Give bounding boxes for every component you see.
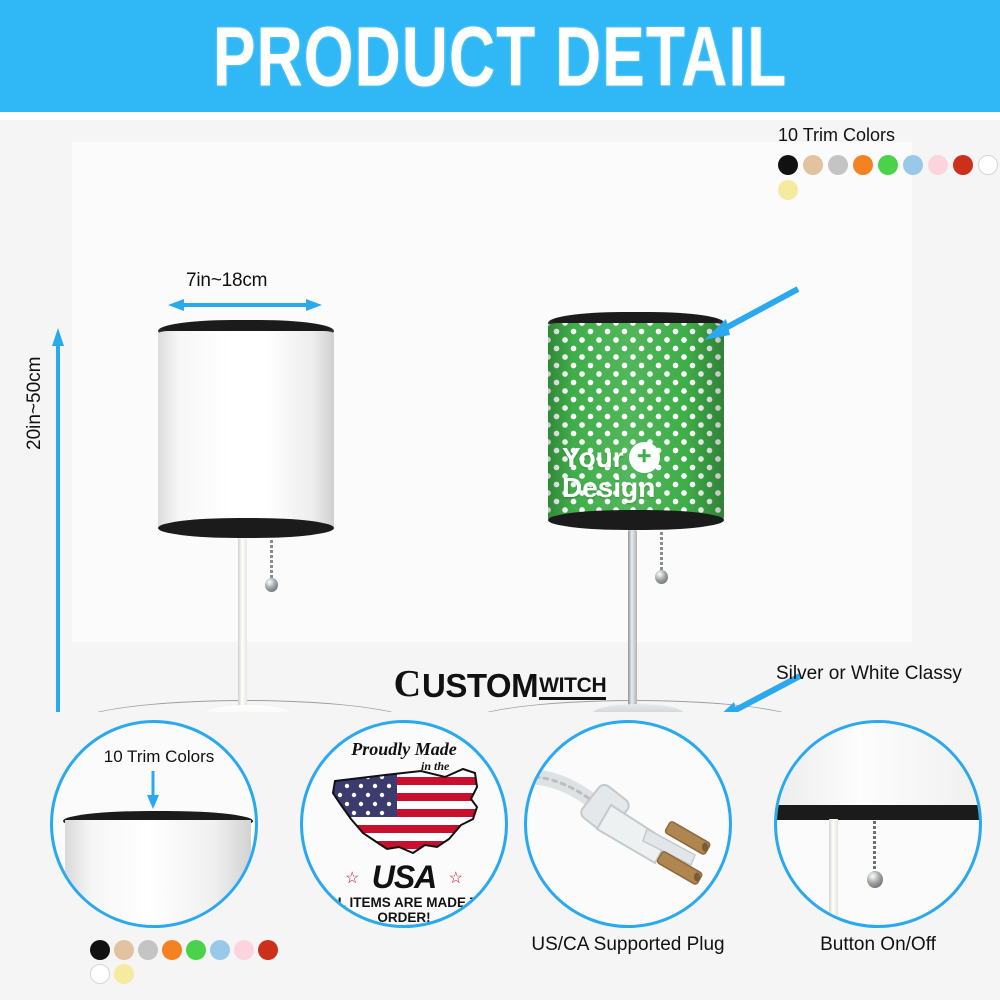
panel-swatch-tan[interactable] — [114, 940, 134, 960]
logo-main-text: USTOM — [422, 669, 538, 702]
panel-swatch-pink[interactable] — [234, 940, 254, 960]
green-lamp-shade-body: Your + Design — [548, 323, 724, 521]
usa-star-right: ☆ — [449, 868, 463, 888]
swatch-black[interactable] — [778, 155, 798, 175]
green-lamp-bottom-trim — [548, 510, 724, 530]
swatch-tan[interactable] — [803, 155, 823, 175]
swatch-yellow[interactable] — [778, 180, 798, 200]
made-in-usa-circle: Proudly Made in the — [300, 720, 508, 928]
white-lamp-shade-body — [158, 331, 334, 529]
green-lamp-pull-chain — [660, 532, 663, 574]
panel-swatch-red[interactable] — [258, 940, 278, 960]
brand-logo: C USTOM WITCH — [394, 666, 607, 702]
panel-swatch-yellow[interactable] — [114, 964, 134, 984]
your-design-placeholder: Your + Design — [562, 442, 660, 503]
made-in-usa-panel: Proudly Made in the — [288, 712, 520, 1000]
panel-swatch-light-blue[interactable] — [210, 940, 230, 960]
panel-swatch-black[interactable] — [90, 940, 110, 960]
trim-colors-inner-label: 10 Trim Colors — [79, 747, 239, 767]
plug-circle — [524, 720, 732, 928]
trim-colors-panel: 10 Trim Colors — [38, 712, 270, 1000]
swatch-pink[interactable] — [928, 155, 948, 175]
design-line-1: Your — [562, 443, 624, 473]
header-divider — [0, 112, 1000, 120]
product-detail-page: PRODUCT DETAIL 7in~18cm 20in~50cm — [0, 0, 1000, 1000]
trim-colors-swatch-row — [778, 155, 1000, 200]
switch-pull-chain — [873, 821, 876, 875]
switch-shade-body — [774, 723, 982, 807]
logo-sub-text: WITCH — [539, 675, 606, 700]
usa-badge: Proudly Made in the — [303, 723, 505, 925]
switch-pole — [829, 819, 838, 928]
usa-map-flag-icon — [325, 761, 493, 867]
feature-panels: 10 Trim Colors — [0, 712, 1000, 1000]
header-banner: PRODUCT DETAIL — [0, 0, 1000, 112]
trim-colors-group: 10 Trim Colors — [778, 125, 993, 200]
switch-panel: Button On/Off — [762, 712, 994, 1000]
panel-swatch-white[interactable] — [90, 964, 110, 984]
switch-circle — [774, 720, 982, 928]
swatch-red[interactable] — [953, 155, 973, 175]
white-lamp-shade — [158, 320, 334, 542]
design-line-2: Design — [562, 473, 655, 503]
swatch-gray[interactable] — [828, 155, 848, 175]
green-lamp-chain-ball — [655, 570, 668, 584]
switch-caption: Button On/Off — [762, 934, 994, 956]
swatch-light-blue[interactable] — [903, 155, 923, 175]
panel-swatch-gray[interactable] — [138, 940, 158, 960]
swatch-green[interactable] — [878, 155, 898, 175]
white-lamp-pull-chain — [270, 540, 273, 582]
logo-c-mark: C — [394, 666, 421, 702]
panel-swatch-orange[interactable] — [162, 940, 182, 960]
switch-shade-trim — [774, 805, 982, 820]
white-lamp-bottom-trim — [158, 518, 334, 538]
plus-icon: + — [629, 442, 660, 473]
trim-colors-circle: 10 Trim Colors — [50, 720, 258, 928]
switch-chain-ball[interactable] — [867, 871, 883, 888]
panel-swatch-green[interactable] — [186, 940, 206, 960]
page-title: PRODUCT DETAIL — [213, 14, 787, 98]
usa-subtitle: ALL ITEMS ARE MADE TO ORDER! — [303, 895, 505, 925]
brand-logo-bar: C USTOM WITCH — [0, 658, 1000, 710]
panel-swatch-row — [90, 940, 282, 984]
plug-icon — [527, 723, 729, 925]
white-lamp-chain-ball — [265, 578, 278, 592]
swatch-white[interactable] — [978, 155, 998, 175]
trim-pointer-arrow — [690, 283, 810, 345]
swatch-orange[interactable] — [853, 155, 873, 175]
width-dimension-arrow — [168, 298, 322, 310]
plug-panel: US/CA Supported Plug — [512, 712, 744, 1000]
width-dimension-label: 7in~18cm — [186, 270, 267, 292]
usa-line-1: Proudly Made — [303, 739, 505, 760]
trim-colors-label: 10 Trim Colors — [778, 125, 993, 146]
green-lamp-shade: Your + Design — [548, 312, 724, 534]
main-stage: 7in~18cm 20in~50cm — [0, 120, 1000, 660]
plug-caption: US/CA Supported Plug — [512, 934, 744, 956]
trim-colors-shade-body — [65, 820, 251, 928]
trim-colors-down-arrow — [145, 771, 161, 809]
height-dimension-label: 20in~50cm — [24, 357, 46, 450]
usa-word: USA — [303, 859, 505, 896]
